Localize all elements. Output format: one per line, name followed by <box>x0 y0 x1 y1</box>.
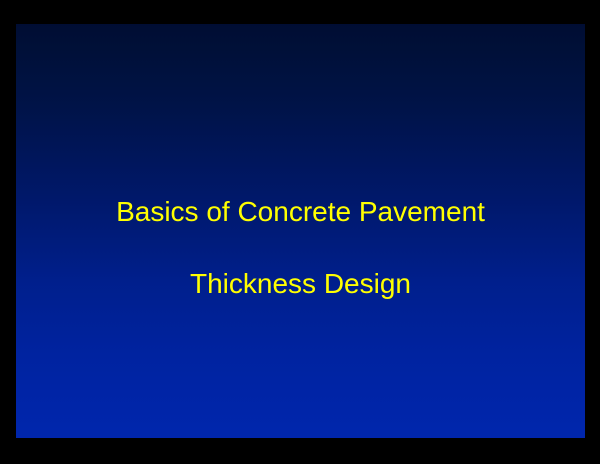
slide-canvas: Basics of Concrete Pavement Thickness De… <box>16 24 585 438</box>
slide-title-line-1: Basics of Concrete Pavement <box>16 194 585 230</box>
slide-title: Basics of Concrete Pavement Thickness De… <box>16 158 585 338</box>
slide-title-line-2: Thickness Design <box>16 266 585 302</box>
presentation-slide-screenshot: Basics of Concrete Pavement Thickness De… <box>0 0 600 464</box>
